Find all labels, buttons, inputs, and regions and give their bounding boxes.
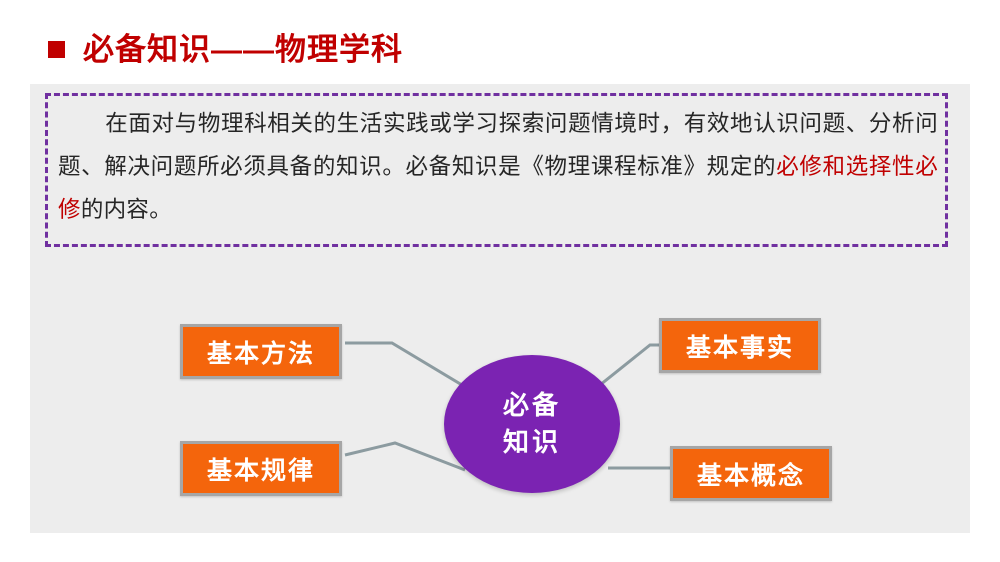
- center-node-line2: 知识: [503, 424, 561, 461]
- node-basic-fact-label: 基本事实: [686, 328, 794, 364]
- definition-text-part2: 的内容。: [81, 197, 172, 222]
- node-basic-law-label: 基本规律: [207, 451, 315, 487]
- node-basic-method-label: 基本方法: [207, 334, 315, 370]
- slide-canvas: 必备知识——物理学科 在面对与物理科相关的生活实践或学习探索问题情境时，有效地认…: [0, 0, 1000, 562]
- definition-paragraph: 在面对与物理科相关的生活实践或学习探索问题情境时，有效地认识问题、分析问题、解决…: [58, 102, 938, 231]
- center-node-line1: 必备: [503, 387, 561, 424]
- node-basic-fact[interactable]: 基本事实: [659, 318, 821, 373]
- square-bullet-icon: [48, 41, 65, 58]
- node-basic-law[interactable]: 基本规律: [180, 441, 342, 496]
- node-basic-concept[interactable]: 基本概念: [670, 446, 832, 501]
- page-title-text: 必备知识——物理学科: [83, 34, 403, 65]
- center-node-essential-knowledge[interactable]: 必备 知识: [444, 355, 620, 493]
- page-title: 必备知识——物理学科: [48, 34, 403, 65]
- node-basic-concept-label: 基本概念: [697, 456, 805, 492]
- node-basic-method[interactable]: 基本方法: [180, 324, 342, 379]
